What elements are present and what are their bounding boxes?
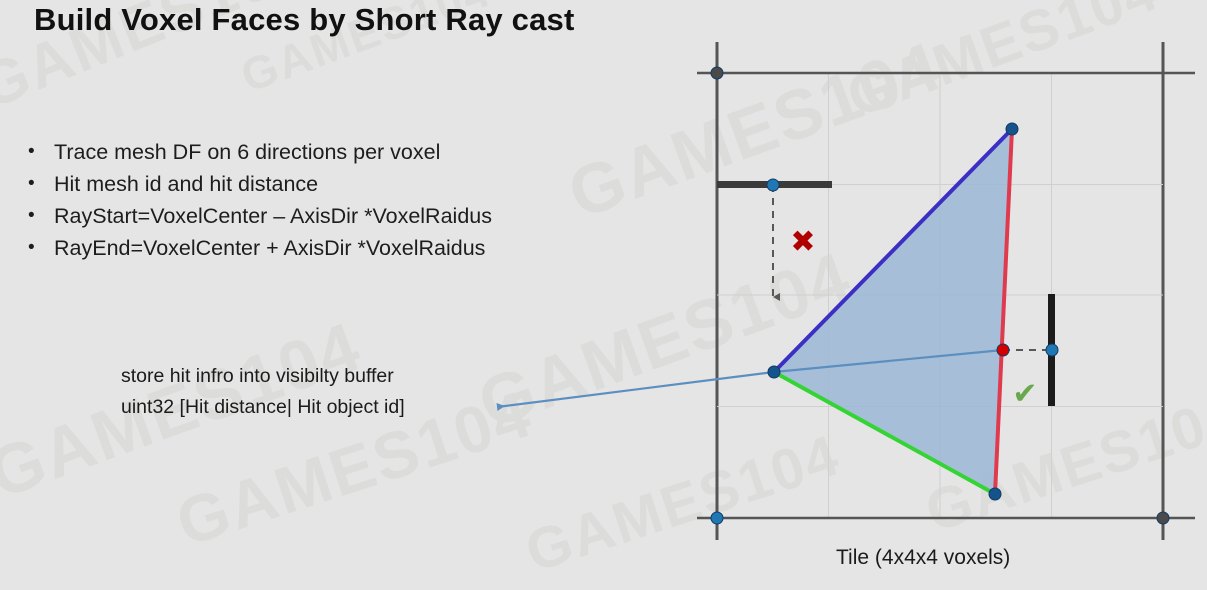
- voxel-tile-diagram: ✖ ✔: [0, 0, 1207, 590]
- dot-voxel-miss-start: [767, 179, 779, 191]
- callout-arrow: [497, 372, 774, 407]
- dot-corner-bottom-right: [1157, 512, 1169, 524]
- cross-icon: ✖: [790, 225, 815, 260]
- diagram-caption: Tile (4x4x4 voxels): [836, 546, 1010, 570]
- dot-corner-top-left: [711, 67, 723, 79]
- dot-tri-bottom: [989, 488, 1001, 500]
- dot-voxel-hit-end: [1046, 344, 1058, 356]
- dot-tri-left: [768, 366, 780, 378]
- dot-corner-bottom-left: [711, 512, 723, 524]
- dot-hit-point: [997, 344, 1009, 356]
- dot-tri-top: [1006, 123, 1018, 135]
- check-icon: ✔: [1012, 377, 1037, 412]
